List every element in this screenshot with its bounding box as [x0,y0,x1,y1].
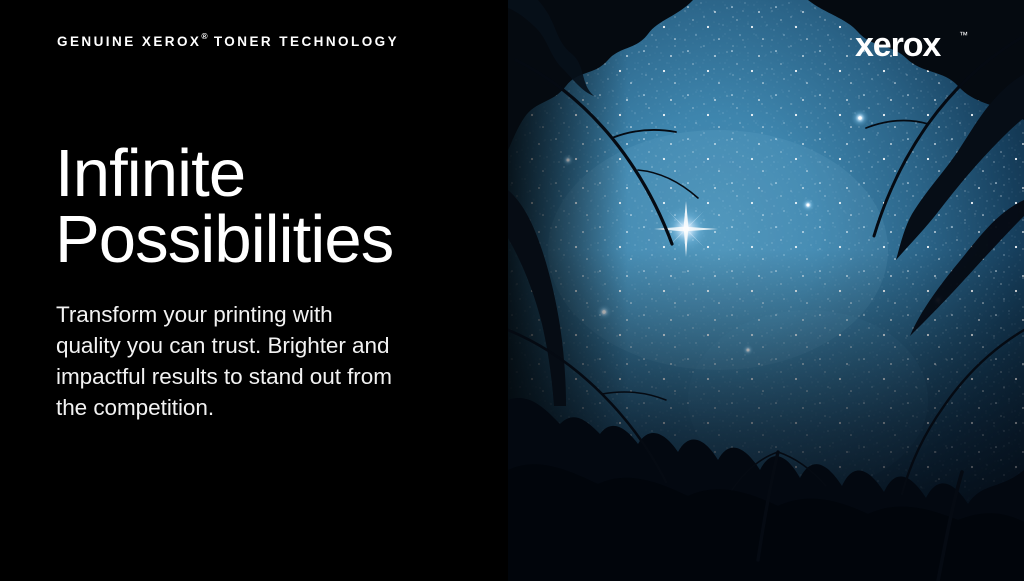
xerox-wordmark-text: xerox [855,26,941,64]
subcopy-line-2: quality you can trust. Brighter and [56,330,456,361]
xerox-toner-banner: GENUINE XEROX® TONER TECHNOLOGY Infinite… [0,0,1024,581]
registered-trademark-icon: ® [201,31,207,41]
trademark-symbol-icon: ™ [959,30,968,40]
subcopy-line-3: impactful results to stand out from [56,361,456,392]
night-sky-forest-photo [508,0,1024,581]
xerox-wordmark-icon: xerox ™ [855,24,980,66]
headline-line-1: Infinite [55,141,393,207]
subcopy-line-1: Transform your printing with [56,299,456,330]
xerox-logo: xerox ™ [855,24,980,66]
night-sky-illustration [508,0,1024,581]
eyebrow-text-after: TONER TECHNOLOGY [214,34,399,49]
eyebrow-text-before: GENUINE XEROX [57,34,201,49]
subcopy-line-4: the competition. [56,392,456,423]
subcopy-paragraph: Transform your printing with quality you… [56,299,456,423]
text-panel: GENUINE XEROX® TONER TECHNOLOGY Infinite… [0,0,508,581]
page-title: Infinite Possibilities [55,141,393,274]
eyebrow-label: GENUINE XEROX® TONER TECHNOLOGY [57,31,399,49]
headline-line-2: Possibilities [55,207,393,273]
